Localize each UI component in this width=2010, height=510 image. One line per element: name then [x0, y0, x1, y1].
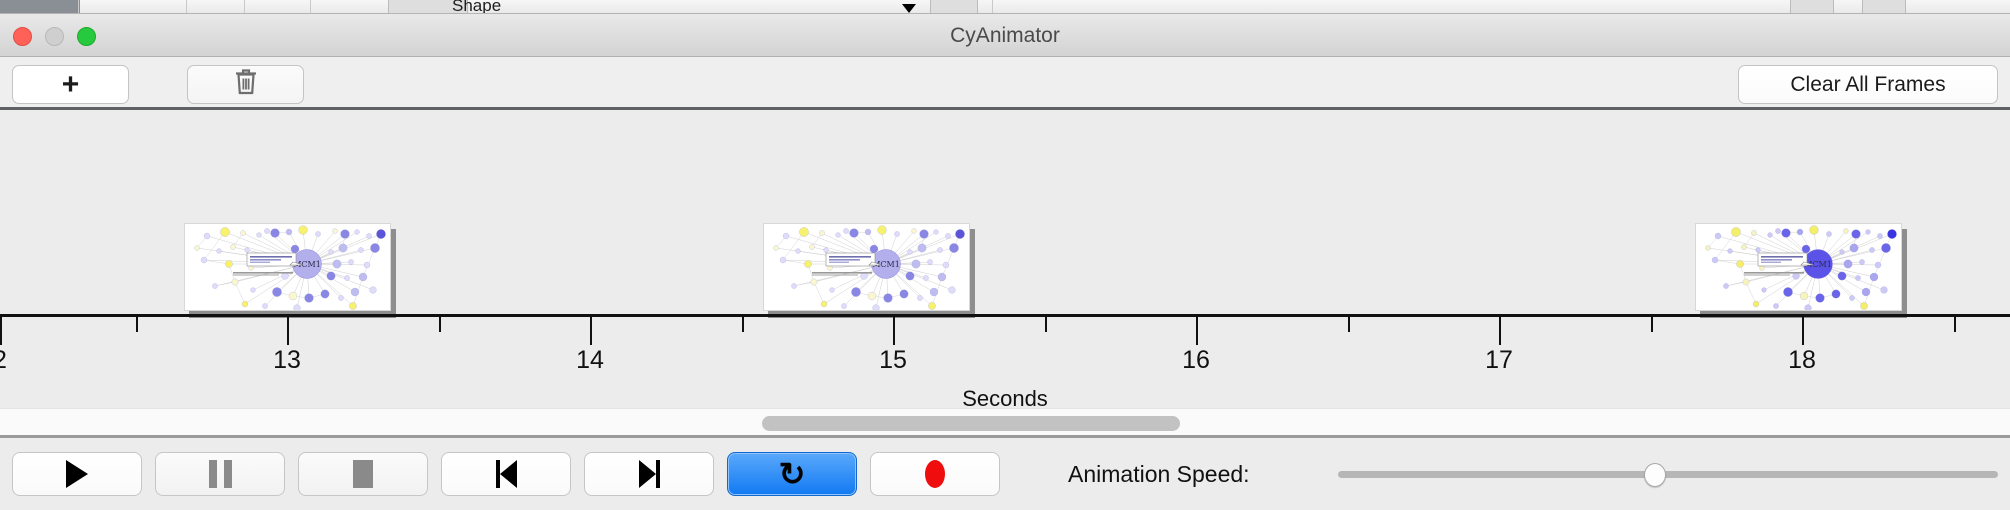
animation-speed-slider[interactable]: [1338, 452, 1998, 496]
ruler-tick-minor: [1045, 317, 1047, 332]
add-frame-button[interactable]: +: [12, 65, 129, 104]
keyframe-2[interactable]: MCM1: [763, 223, 975, 316]
frame-toolbar: + Clear All Frames: [0, 57, 2010, 110]
animation-speed-label: Animation Speed:: [1068, 452, 1250, 496]
loop-icon: ↻: [779, 460, 806, 489]
playback-toolbar: ↻ Animation Speed:: [0, 441, 2010, 510]
frame-thumbnail[interactable]: MCM1: [1695, 223, 1902, 311]
ruler-tick-major: [0, 317, 2, 345]
window-titlebar: CyAnimator: [0, 14, 2010, 57]
pause-icon: [209, 460, 232, 488]
plus-icon: +: [62, 73, 80, 97]
ruler-axis: [0, 314, 2010, 317]
ruler-tick-minor: [1954, 317, 1956, 332]
ruler-tick-label: 14: [576, 346, 604, 375]
background-field: [1790, 0, 1834, 14]
clear-all-frames-button[interactable]: Clear All Frames: [1738, 65, 1998, 104]
ruler-tick-major: [287, 317, 289, 345]
ruler-tick-minor: [742, 317, 744, 332]
divider: [244, 0, 245, 14]
frame-thumbnail[interactable]: MCM1: [184, 223, 391, 311]
pause-button[interactable]: [155, 452, 285, 496]
play-button[interactable]: [12, 452, 142, 496]
ruler-tick-major: [1499, 317, 1501, 345]
stop-icon: [353, 460, 373, 488]
timeline-ruler[interactable]: Seconds 2131415161718: [0, 314, 2010, 410]
divider: [186, 0, 187, 14]
ruler-tick-minor: [1651, 317, 1653, 332]
background-tab-label: Shape: [452, 0, 501, 14]
slider-track[interactable]: [1338, 471, 1998, 478]
loop-button[interactable]: ↻: [727, 452, 857, 496]
scrollbar-thumb[interactable]: [762, 416, 1180, 431]
divider: [310, 0, 311, 14]
ruler-tick-label: 13: [273, 346, 301, 375]
keyframe-track[interactable]: MCM1 MCM1 MCM1: [0, 110, 2010, 314]
ruler-tick-label: 15: [879, 346, 907, 375]
ruler-tick-major: [1802, 317, 1804, 345]
skip-forward-icon: [639, 460, 660, 488]
ruler-tick-label: 16: [1182, 346, 1210, 375]
ruler-tick-minor: [439, 317, 441, 332]
trash-icon: [234, 68, 258, 101]
background-field: [1862, 0, 1906, 14]
play-icon: [66, 460, 88, 488]
ruler-tick-major: [1196, 317, 1198, 345]
skip-back-icon: [496, 460, 517, 488]
divider: [78, 0, 79, 14]
stop-button[interactable]: [298, 452, 428, 496]
record-icon: [925, 460, 945, 488]
ruler-tick-major: [590, 317, 592, 345]
clear-all-frames-label: Clear All Frames: [1790, 73, 1945, 97]
timeline-panel[interactable]: MCM1 MCM1 MCM1: [0, 110, 2010, 400]
previous-frame-button[interactable]: [441, 452, 571, 496]
timeline-horizontal-scrollbar[interactable]: [0, 408, 2010, 438]
ruler-tick-minor: [1348, 317, 1350, 332]
ruler-tick-label: 18: [1788, 346, 1816, 375]
ruler-tick-label: 17: [1485, 346, 1513, 375]
keyframe-1[interactable]: MCM1: [184, 223, 396, 316]
record-button[interactable]: [870, 452, 1000, 496]
background-selected-tab: [0, 0, 80, 14]
ruler-tick-minor: [136, 317, 138, 332]
background-window-strip: Shape: [0, 0, 2010, 14]
ruler-tick-major: [893, 317, 895, 345]
background-toolbar: [0, 0, 2010, 14]
background-sort-arrow-icon: [902, 4, 916, 13]
window-title: CyAnimator: [0, 14, 2010, 57]
slider-thumb[interactable]: [1644, 463, 1666, 487]
keyframe-3[interactable]: MCM1: [1695, 223, 1907, 316]
divider: [992, 0, 993, 14]
ruler-tick-label: 2: [0, 346, 7, 375]
delete-frame-button[interactable]: [187, 65, 304, 104]
background-field: [930, 0, 978, 14]
frame-thumbnail[interactable]: MCM1: [763, 223, 970, 311]
next-frame-button[interactable]: [584, 452, 714, 496]
